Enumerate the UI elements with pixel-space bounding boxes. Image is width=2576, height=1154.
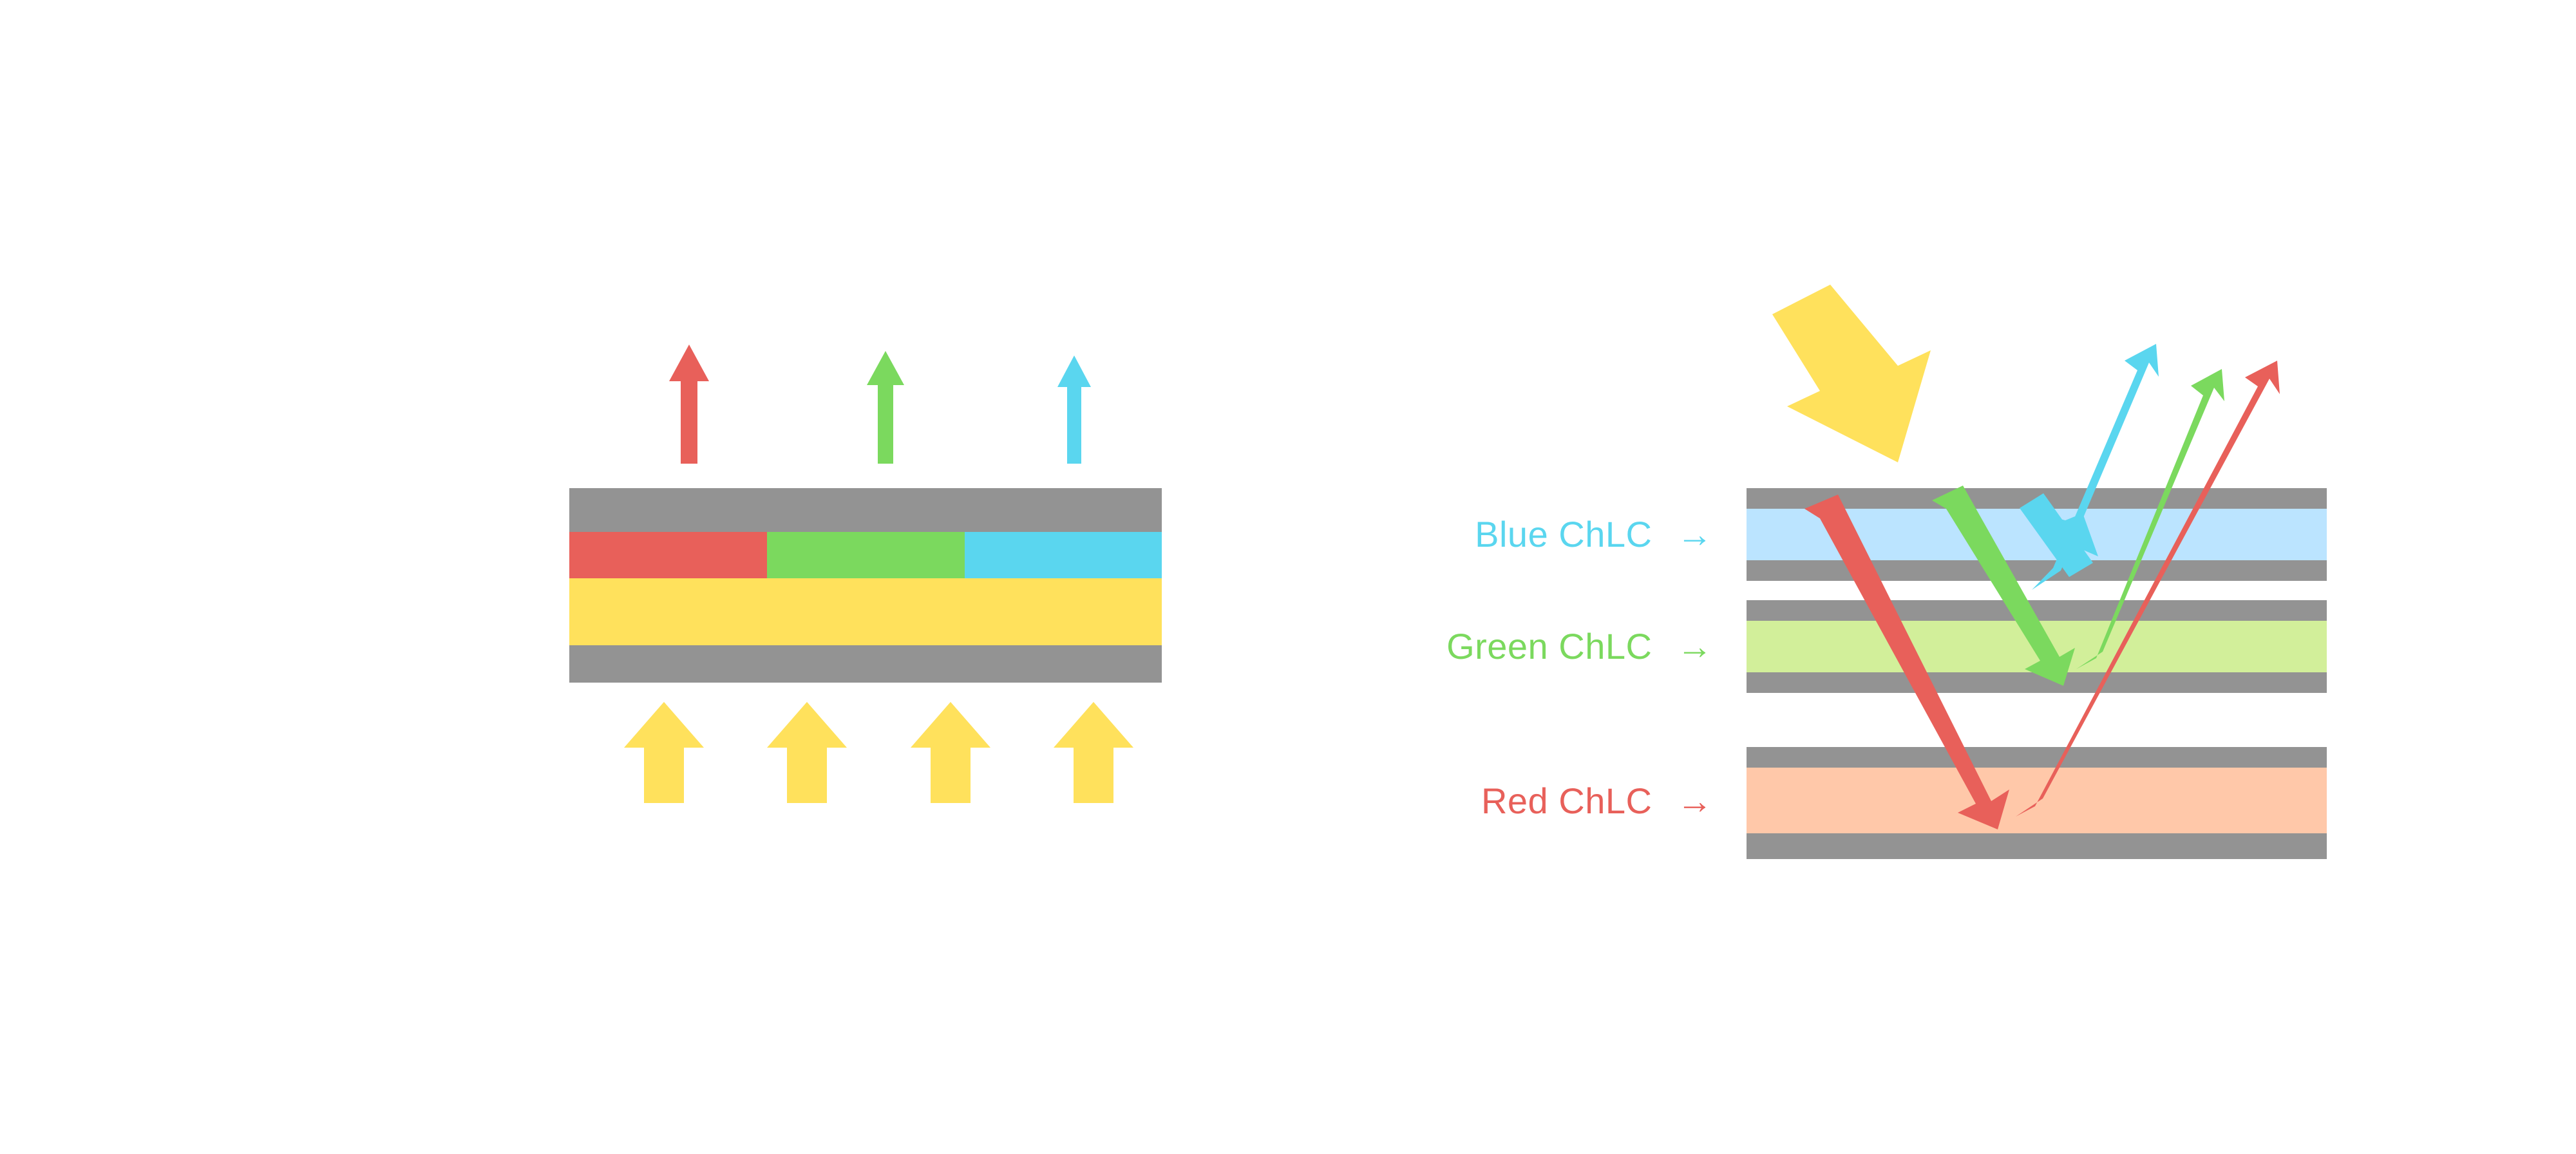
red-bottom-electrode	[1747, 833, 2327, 859]
backlight-layer	[569, 578, 1162, 645]
blue-emitted-arrow	[1057, 355, 1091, 464]
red-chlc-label-text: Red ChLC	[1481, 780, 1652, 821]
gap-1	[1747, 581, 2327, 600]
backlight-arrows-group	[624, 702, 1133, 803]
chlc-display-diagram: Blue ChLC → Green ChLC → Red ChLC →	[0, 0, 2576, 1154]
blue-bottom-electrode	[1747, 560, 2327, 581]
left-panel-group	[569, 345, 1162, 803]
green-filter-segment	[767, 532, 965, 578]
right-panel-group: Blue ChLC → Green ChLC → Red ChLC →	[1446, 285, 2327, 859]
bottom-electrode-layer	[569, 645, 1162, 683]
green-chlc-label-arrow: →	[1677, 626, 1714, 667]
green-emitted-arrow	[867, 351, 904, 464]
green-chlc-label: Green ChLC →	[1446, 626, 1713, 667]
blue-filter-segment	[965, 532, 1162, 578]
red-top-electrode	[1747, 747, 2327, 768]
right-panel-labels-group: Blue ChLC → Green ChLC → Red ChLC →	[1446, 514, 1713, 821]
green-bottom-electrode	[1747, 672, 2327, 693]
backlight-arrow-2	[767, 702, 847, 803]
emitted-arrows-group	[669, 345, 1091, 464]
red-chlc-label: Red ChLC →	[1481, 780, 1713, 821]
backlight-arrow-4	[1054, 702, 1133, 803]
red-filter-segment	[569, 532, 767, 578]
top-electrode-layer	[569, 488, 1162, 532]
red-emitted-arrow	[669, 345, 709, 464]
red-chlc-label-arrow: →	[1677, 780, 1714, 821]
incident-white-light-arrow	[1772, 285, 1931, 462]
red-chlc-layer	[1747, 768, 2327, 833]
backlight-arrow-1	[624, 702, 704, 803]
green-chlc-label-text: Green ChLC	[1446, 626, 1652, 667]
blue-chlc-label-text: Blue ChLC	[1475, 514, 1652, 554]
left-stack-group	[569, 488, 1162, 683]
blue-chlc-label: Blue ChLC →	[1475, 514, 1713, 554]
backlight-arrow-3	[911, 702, 990, 803]
blue-chlc-label-arrow: →	[1677, 514, 1714, 554]
figure-root: Blue ChLC → Green ChLC → Red ChLC →	[0, 0, 2576, 1154]
gap-2	[1747, 693, 2327, 712]
